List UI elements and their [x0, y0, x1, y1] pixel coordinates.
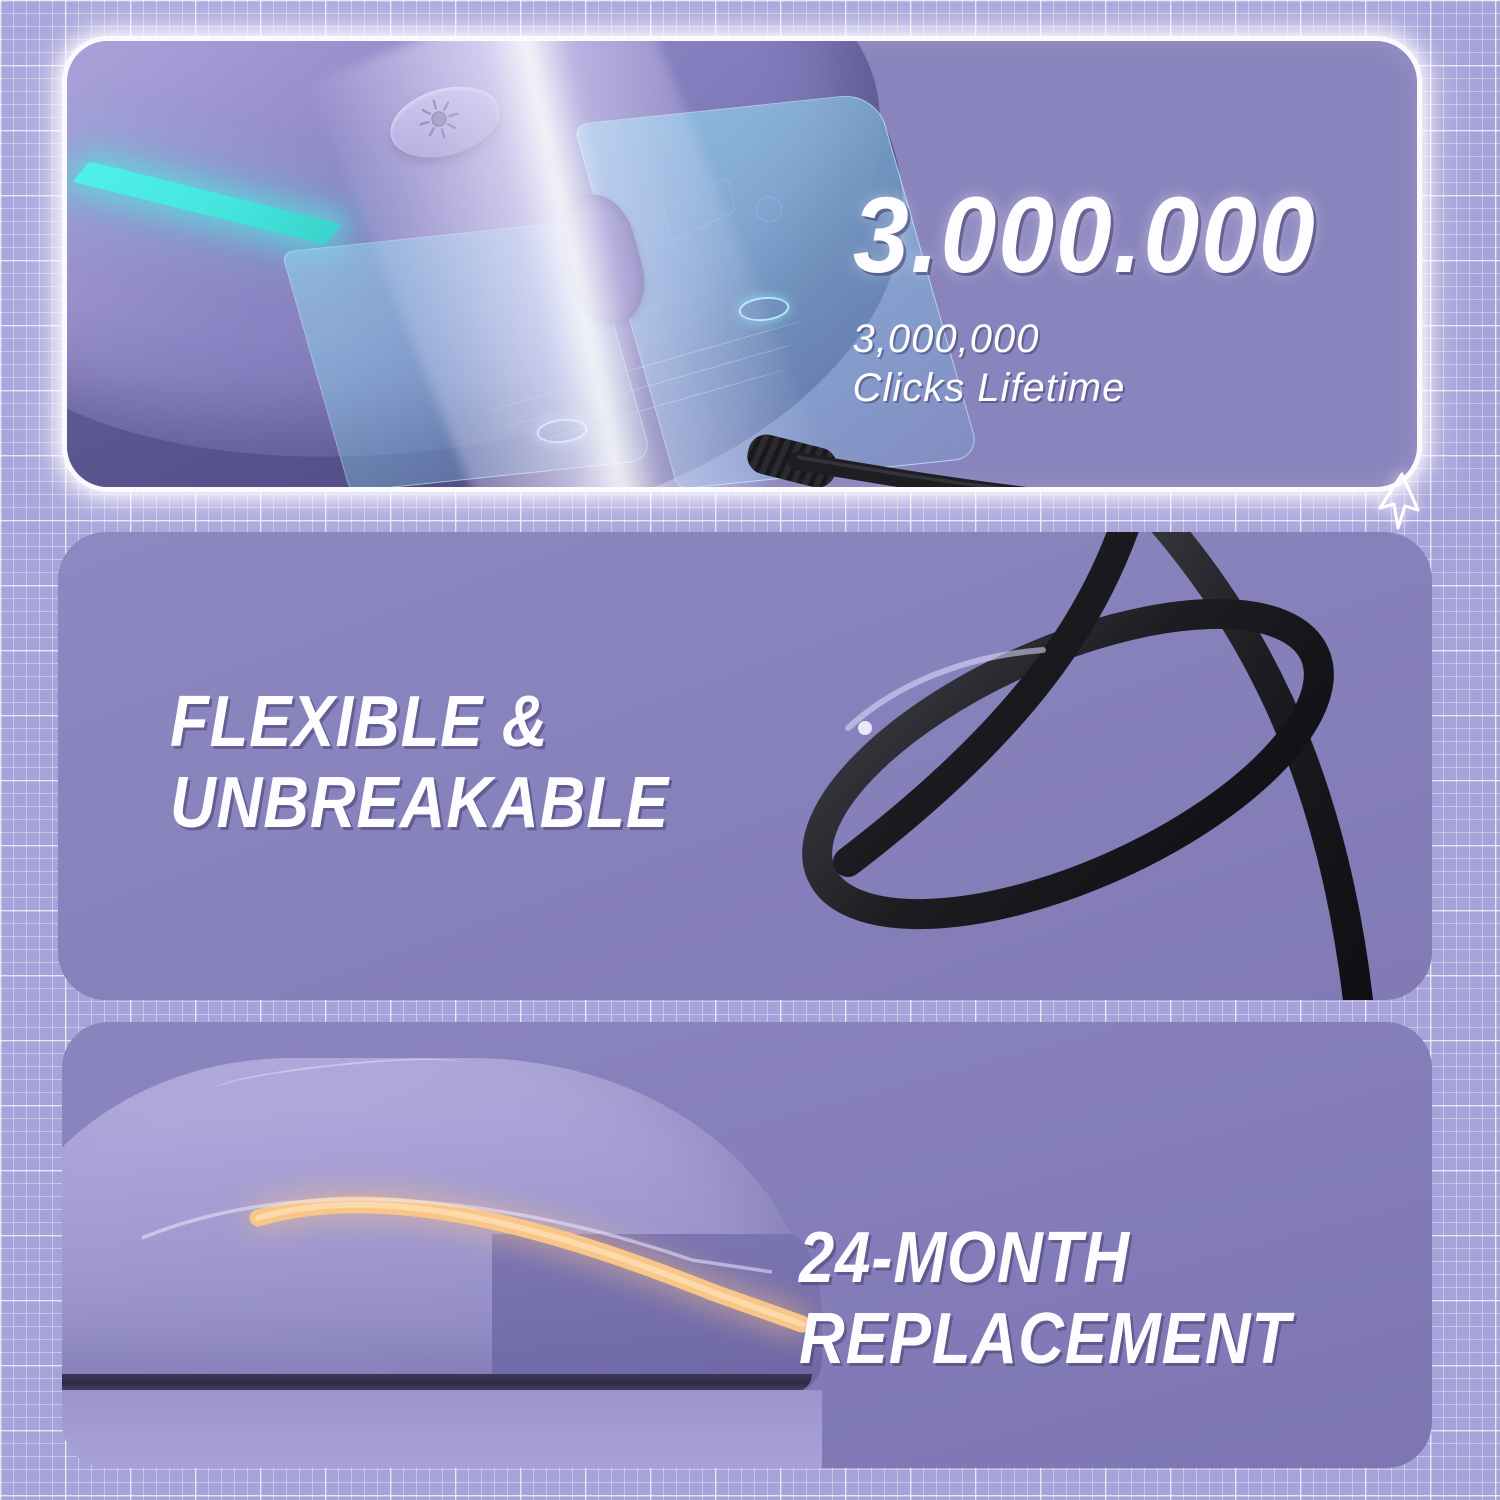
flexible-headline-line2: UNBREAKABLE — [170, 763, 669, 844]
mouse-contact-shadow — [62, 1390, 822, 1468]
panel-clicks-lifetime: 3.000.000 3,000,000 Clicks Lifetime — [62, 36, 1422, 492]
flexible-headline-line1: FLEXIBLE & — [170, 682, 669, 763]
panel-flexible-unbreakable: FLEXIBLE & UNBREAKABLE — [58, 532, 1432, 1000]
clicks-subline-1: 3,000,000 — [853, 315, 1351, 364]
flexible-text-block: FLEXIBLE & UNBREAKABLE — [170, 682, 737, 845]
panel-24-month-replacement: 24-MONTH REPLACEMENT — [62, 1022, 1432, 1468]
warranty-text-block: 24-MONTH REPLACEMENT — [799, 1218, 1358, 1381]
product-feature-graphic: 3.000.000 3,000,000 Clicks Lifetime — [0, 0, 1500, 1500]
clicks-subline-2: Clicks Lifetime — [853, 364, 1351, 413]
warranty-headline-line2: REPLACEMENT — [799, 1299, 1291, 1380]
mouse-body-seam — [132, 1142, 832, 1272]
cable-segment-panel1 — [797, 445, 1422, 492]
arrow-pointer-icon — [1372, 470, 1432, 534]
clicks-headline: 3.000.000 — [853, 181, 1317, 289]
clicks-text-block: 3.000.000 3,000,000 Clicks Lifetime — [853, 181, 1351, 413]
warranty-headline-line1: 24-MONTH — [799, 1218, 1291, 1299]
